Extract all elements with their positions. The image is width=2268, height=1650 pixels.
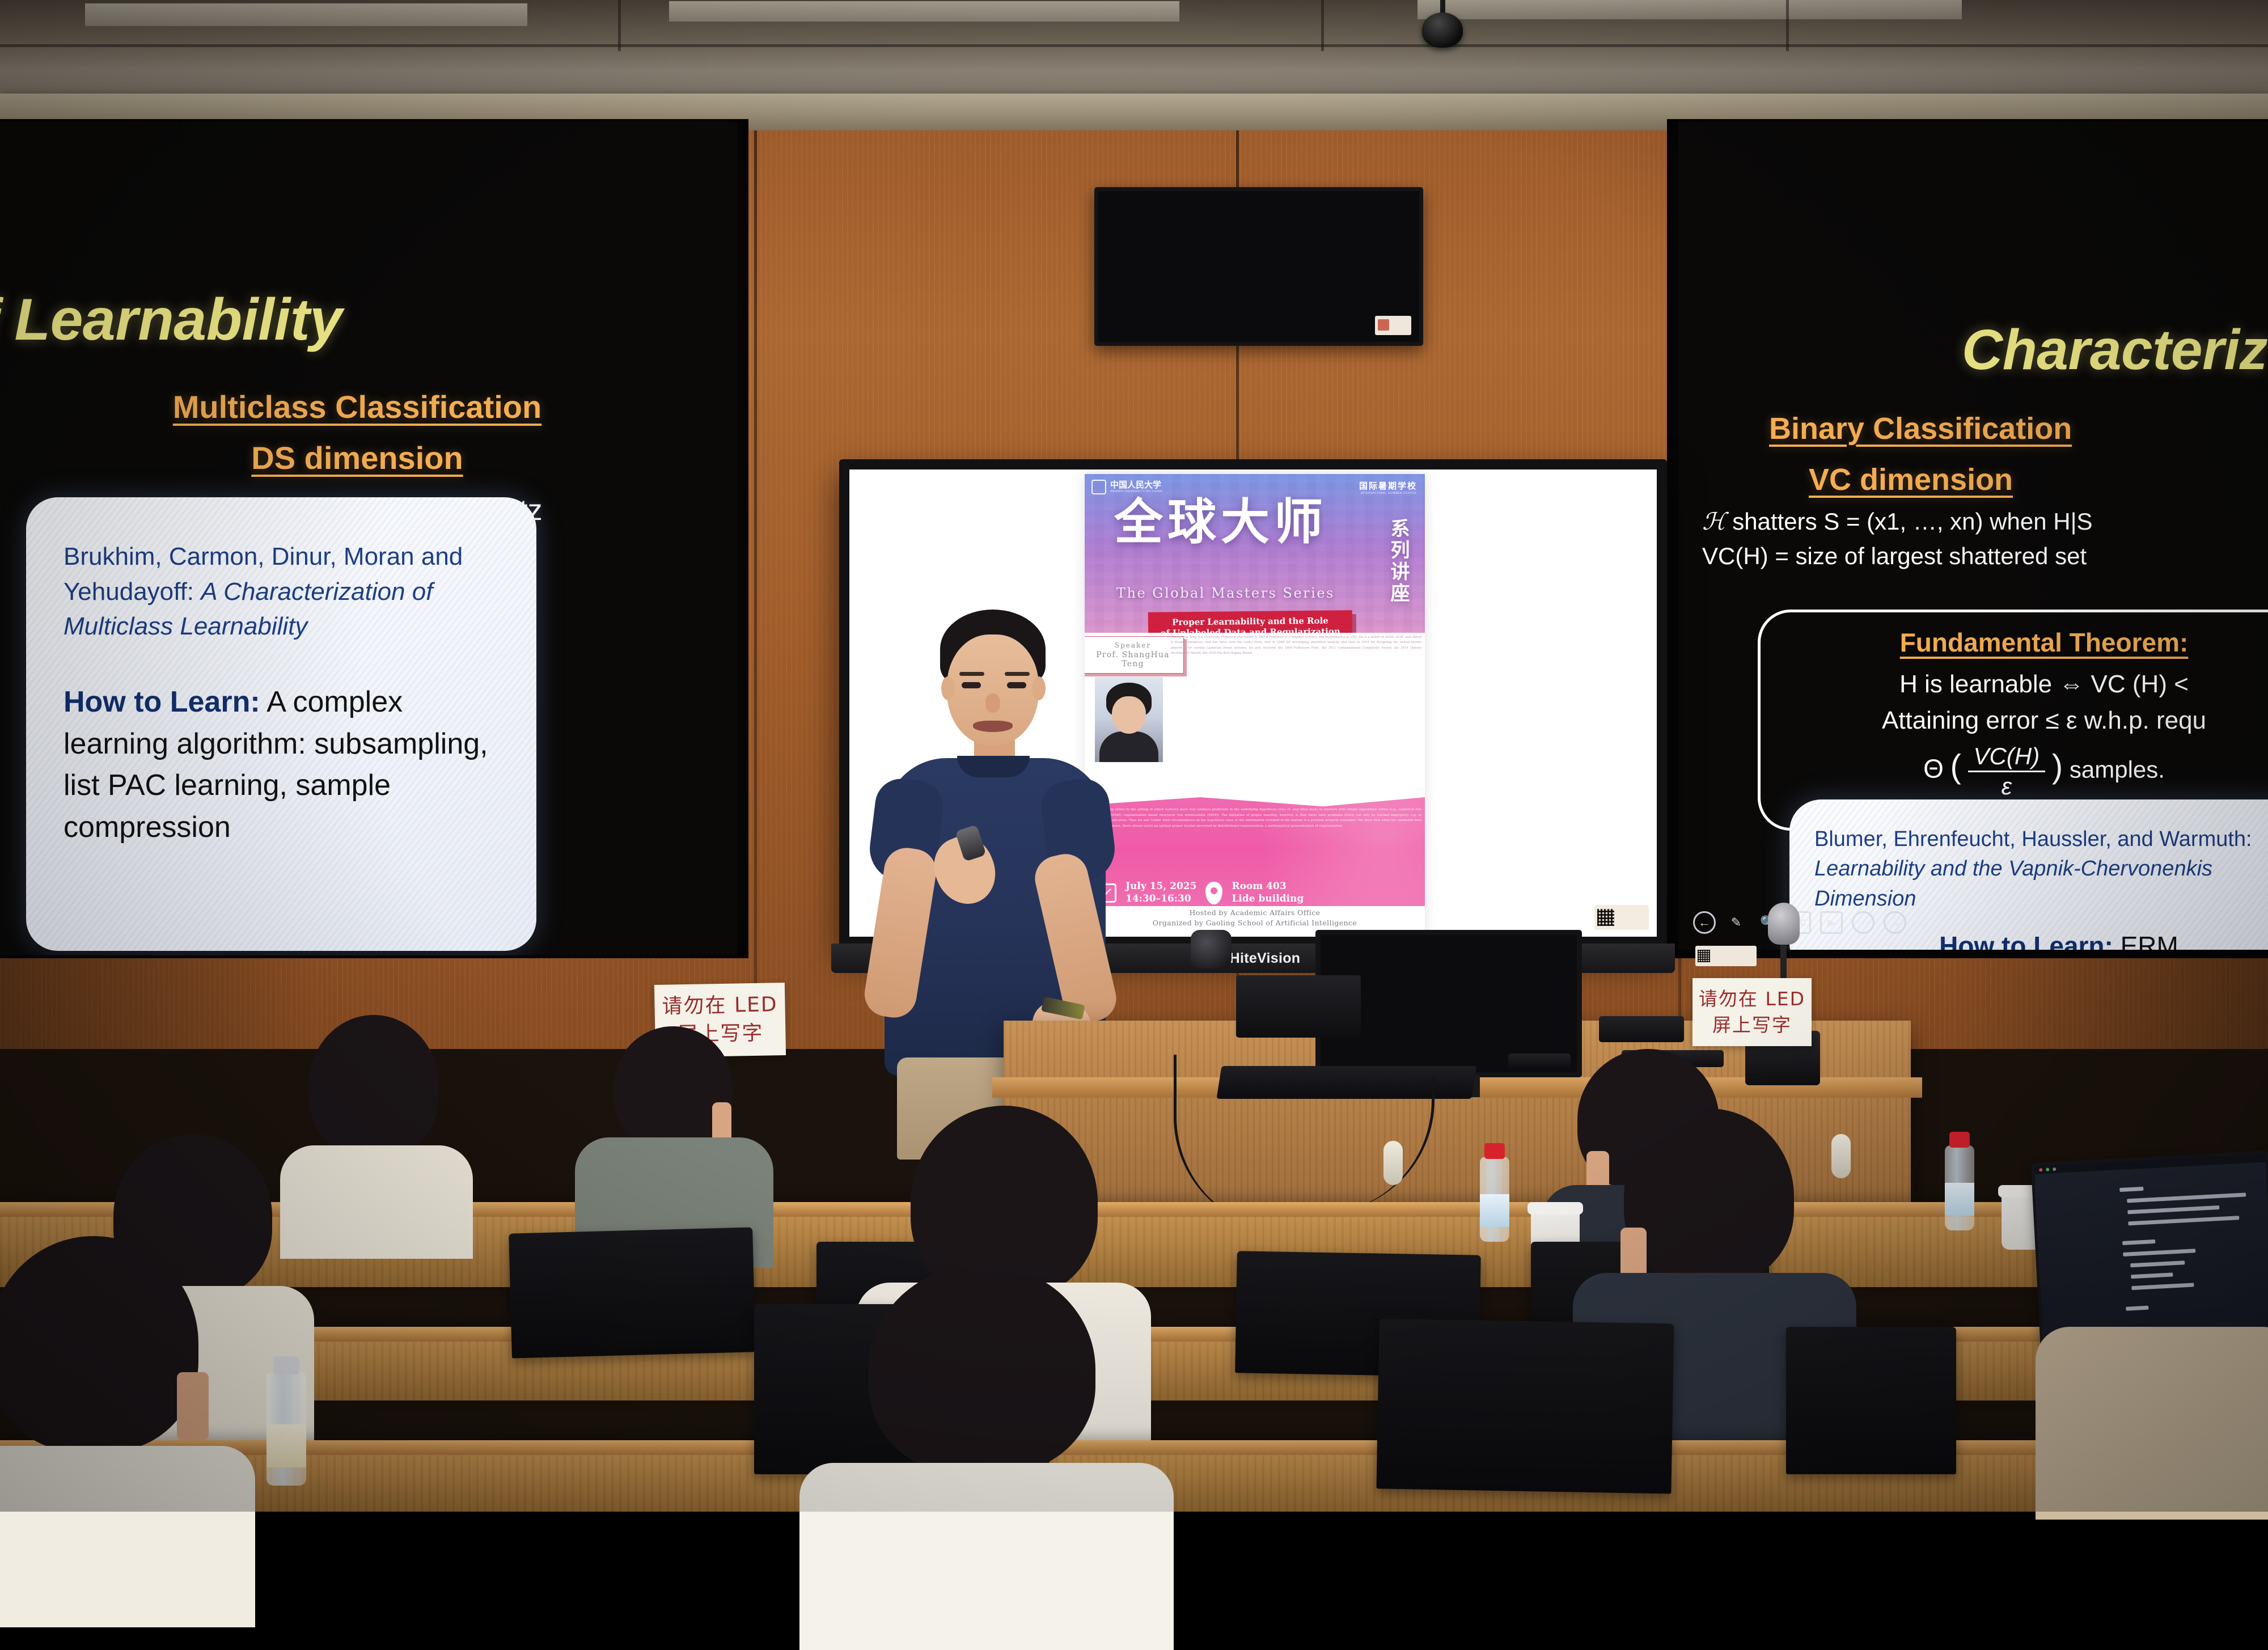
slide-title-right: Characteriz bbox=[1962, 318, 2267, 383]
ceiling-speaker-icon bbox=[1422, 12, 1463, 48]
poster-headline-en: The Global Masters Series bbox=[1116, 585, 1335, 601]
cup-lid bbox=[1527, 1202, 1583, 1215]
audience-laptop[interactable] bbox=[509, 1227, 756, 1358]
callout-reference: Blumer, Ehrenfeucht, Haussler, and Warmu… bbox=[1814, 824, 2268, 913]
ceiling-light-panel bbox=[85, 3, 527, 26]
poster-hosted-by: Hosted by Academic Affairs Office bbox=[1085, 908, 1425, 918]
theorem-line-3: Θ ( VC(H) ε ) samples. bbox=[1778, 744, 2268, 799]
left-presentation-slide: of Learnability Multiclass Classificatio… bbox=[0, 122, 737, 955]
slide-title-left: of Learnability bbox=[0, 286, 342, 354]
ceiling-grid-line bbox=[1786, 0, 1789, 51]
code-line bbox=[2131, 1272, 2173, 1279]
audience-member bbox=[2036, 1304, 2268, 1514]
slide-subhead-ds-dimension: DS dimension bbox=[0, 439, 737, 476]
bottle-label bbox=[1480, 1194, 1509, 1227]
slideshow-toolbar[interactable]: ← ✎ 🔍 CC ▶ ⋯ → bbox=[1693, 911, 1906, 934]
callout-howto-body: ERM bbox=[2121, 931, 2178, 950]
code-line bbox=[2128, 1216, 2239, 1225]
presenter-mouth bbox=[973, 721, 1013, 732]
person-body bbox=[0, 1446, 255, 1627]
presenter-ear-left bbox=[941, 676, 955, 700]
right-presentation-slide: Characteriz Binary Classification VC dim… bbox=[1678, 122, 2268, 950]
event-date: July 15, 2025 bbox=[1125, 881, 1196, 892]
sign-line-1: 请勿在 LED bbox=[654, 991, 785, 1021]
summer-school-logo: 国际暑期学校 INTERNATIONAL SUMMER SCHOOL bbox=[1359, 480, 1417, 495]
speaker-biography: Shang-Hua Teng is a University Professor… bbox=[1171, 635, 1421, 793]
person-head bbox=[0, 1236, 198, 1452]
ceiling-light-panel bbox=[669, 1, 1179, 22]
event-poster: 中国人民大学 RENMIN UNIVERSITY OF CHINA 国际暑期学校… bbox=[1085, 474, 1425, 937]
code-line bbox=[2123, 1249, 2195, 1256]
code-line bbox=[2122, 1239, 2155, 1245]
ceiling-grid-line bbox=[0, 44, 2268, 47]
sign-line-2: 屏上写字 bbox=[1692, 1012, 1812, 1038]
callout-reference: Brukhim, Carmon, Dinur, Moran and Yehuda… bbox=[64, 539, 499, 644]
ceiling-light-panel bbox=[1417, 0, 1962, 19]
event-location: Room 403 Lide building bbox=[1232, 881, 1304, 905]
document-camera bbox=[1191, 930, 1232, 968]
editor-title-bar bbox=[2034, 1154, 2266, 1174]
talk-abstract: Proper learning refers to the setting in… bbox=[1088, 807, 1421, 878]
asset-tag-label bbox=[1617, 915, 1618, 920]
left-slide-callout-box: Brukhim, Carmon, Dinur, Moran and Yehuda… bbox=[26, 497, 536, 951]
display-brand-name: HiteVision bbox=[1230, 950, 1301, 967]
person-head bbox=[1624, 1109, 1794, 1284]
poster-abstract-section: Proper learning refers to the setting in… bbox=[1085, 797, 1425, 929]
sample-complexity-fraction: VC(H) ε bbox=[1968, 744, 2046, 799]
wall-mounted-tv bbox=[1094, 187, 1423, 346]
presenter-nose bbox=[985, 693, 1000, 713]
slide-subhead-multiclass-classification: Multiclass Classification bbox=[0, 388, 737, 425]
university-name-cn: 中国人民大学 bbox=[1110, 481, 1162, 490]
qr-code-icon bbox=[1597, 909, 1614, 926]
pen-icon[interactable]: ✎ bbox=[1725, 911, 1747, 934]
audience-member bbox=[584, 1026, 760, 1225]
university-seal-icon bbox=[1091, 480, 1106, 494]
fraction-numerator: VC(H) bbox=[1968, 744, 2046, 772]
presenter-ear-right bbox=[1032, 676, 1046, 700]
window-minimize-dot[interactable] bbox=[2046, 1168, 2049, 1171]
camera-icon[interactable]: ▶ bbox=[1820, 911, 1843, 934]
sign-line-1: 请勿在 LED bbox=[1692, 986, 1812, 1012]
lecture-hall-scene: of Learnability Multiclass Classificatio… bbox=[0, 0, 2268, 1512]
window-close-dot[interactable] bbox=[2039, 1168, 2042, 1171]
code-line bbox=[2131, 1283, 2194, 1290]
presenter-eye-right bbox=[1007, 682, 1026, 688]
theorem-title: Fundamental Theorem: bbox=[1778, 627, 2268, 658]
event-time: 14:30–16:30 bbox=[1125, 893, 1196, 905]
slide-body-vc-def: VC(H) = size of largest shattered set bbox=[1702, 543, 2087, 570]
callout-reference-authors: Blumer, Ehrenfeucht, Haussler, and Warmu… bbox=[1814, 827, 2252, 851]
room-asset-tag bbox=[1695, 946, 1757, 966]
presenter-brow-left bbox=[959, 672, 984, 676]
audience-laptop[interactable] bbox=[1376, 1318, 1674, 1494]
callout-reference-title: Learnability and the Vapnik-Chervonenkis… bbox=[1814, 857, 2212, 910]
person-head bbox=[869, 1264, 1095, 1474]
slide-body-shatters-def: ℋ shatters S = (x1, …, xn) when H|S bbox=[1702, 507, 2093, 535]
bottle-label bbox=[266, 1424, 306, 1467]
bottle-cap bbox=[1484, 1143, 1505, 1159]
audience-member bbox=[839, 1264, 1134, 1514]
theorem-line-1: H is learnable ⇔ VC (H) < bbox=[1778, 670, 2268, 699]
led-warning-sign-right: 请勿在 LED 屏上写字 bbox=[1692, 978, 1812, 1046]
poster-organized-by: Organized by Gaoling School of Artificia… bbox=[1085, 918, 1425, 928]
event-room: Room 403 bbox=[1232, 881, 1304, 892]
presenter-brow-right bbox=[1005, 672, 1030, 676]
slide-subhead-binary-classification: Binary Classification bbox=[1769, 411, 2072, 446]
theta-symbol: Θ bbox=[1923, 754, 1944, 784]
ceiling-grid-line bbox=[618, 0, 621, 51]
poster-footer: Hosted by Academic Affairs Office Organi… bbox=[1085, 906, 1425, 929]
audience-member bbox=[283, 1015, 465, 1219]
display-asset-tag bbox=[1594, 905, 1649, 930]
presenter-eye-left bbox=[962, 682, 981, 688]
ceiling-grid-line bbox=[1321, 0, 1324, 51]
code-line bbox=[2127, 1205, 2219, 1214]
callout-howto: How to Learn: A complex learning algorit… bbox=[64, 682, 499, 849]
back-arrow-icon[interactable]: ← bbox=[1693, 911, 1716, 934]
bottle-cap bbox=[273, 1356, 299, 1374]
program-name-en: INTERNATIONAL SUMMER SCHOOL bbox=[1359, 492, 1417, 495]
tv-asset-tag bbox=[1375, 316, 1411, 335]
asset-tag-label bbox=[1712, 954, 1713, 958]
paren-open: ( bbox=[1950, 748, 1961, 785]
slide-subhead-vc-dimension: VC dimension bbox=[1809, 462, 2013, 497]
location-pin-icon bbox=[1205, 882, 1222, 904]
qr-code-icon bbox=[1698, 950, 1710, 962]
university-logo: 中国人民大学 RENMIN UNIVERSITY OF CHINA bbox=[1091, 480, 1162, 494]
poster-headline-cn: 全球大师 bbox=[1114, 498, 1327, 547]
window-maximize-dot[interactable] bbox=[2053, 1167, 2056, 1171]
program-name-cn: 国际暑期学校 bbox=[1359, 480, 1417, 492]
theorem-line-2: Attaining error ≤ ε w.h.p. requ bbox=[1778, 706, 2268, 735]
bottle-label bbox=[1945, 1183, 1974, 1216]
person-head bbox=[308, 1015, 439, 1157]
presenter-collar bbox=[957, 756, 1030, 777]
forward-arrow-icon[interactable]: → bbox=[1884, 911, 1906, 934]
event-logistics: July 15, 2025 14:30–16:30 Room 403 Lide … bbox=[1097, 881, 1415, 905]
more-options-icon[interactable]: ⋯ bbox=[1852, 911, 1875, 934]
audience-member bbox=[0, 1236, 232, 1514]
poster-headline-cn-vertical: 系列讲座 bbox=[1387, 518, 1409, 604]
bottle-cap bbox=[1949, 1132, 1970, 1148]
event-datetime: July 15, 2025 14:30–16:30 bbox=[1125, 881, 1196, 905]
person-body bbox=[2036, 1327, 2268, 1520]
samples-word: samples. bbox=[2070, 756, 2165, 783]
event-building: Lide building bbox=[1232, 893, 1304, 905]
water-bottle bbox=[266, 1372, 306, 1486]
person-body bbox=[280, 1145, 473, 1259]
person-ear bbox=[177, 1372, 209, 1440]
person-body bbox=[799, 1463, 1174, 1650]
hypothesis-class-symbol: ℋ bbox=[1702, 507, 1726, 535]
callout-howto-label: How to Learn: bbox=[1939, 931, 2113, 950]
code-line bbox=[2119, 1187, 2143, 1192]
paren-close: ) bbox=[2052, 748, 2063, 785]
callout-howto-label: How to Learn: bbox=[64, 686, 260, 718]
desk-divider-knob bbox=[1383, 1141, 1403, 1185]
wall-panel-seam bbox=[754, 130, 757, 1049]
water-bottle bbox=[1945, 1145, 1974, 1230]
desk-divider-knob bbox=[1831, 1134, 1851, 1178]
podium-control-panel[interactable] bbox=[1599, 1016, 1684, 1042]
podium-equipment-box bbox=[1236, 975, 1361, 1038]
fraction-denominator: ε bbox=[1968, 772, 2046, 799]
poster-speaker-section: Speaker Prof. ShangHua Teng Shang-Hua Te… bbox=[1085, 633, 1425, 797]
code-line bbox=[2130, 1260, 2185, 1267]
water-bottle bbox=[1480, 1157, 1509, 1242]
code-line bbox=[2127, 1192, 2246, 1203]
audience-laptop[interactable] bbox=[1786, 1327, 1956, 1474]
fundamental-theorem-box: Fundamental Theorem: H is learnable ⇔ VC… bbox=[1758, 610, 2268, 831]
university-name-en: RENMIN UNIVERSITY OF CHINA bbox=[1110, 490, 1162, 493]
microphone-icon bbox=[1768, 903, 1800, 945]
poster-header: 中国人民大学 RENMIN UNIVERSITY OF CHINA 国际暑期学校… bbox=[1085, 474, 1425, 633]
